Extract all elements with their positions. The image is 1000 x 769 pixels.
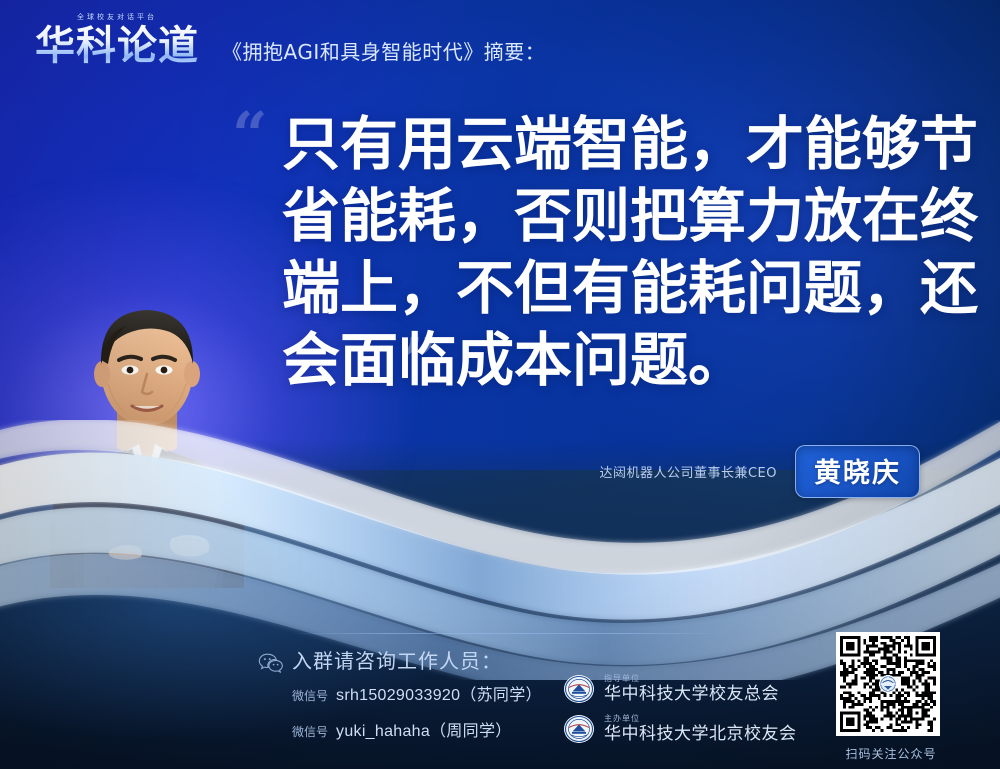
brand-tagline: 全球校友对话平台 xyxy=(77,12,157,22)
organization-kind: 主办单位 xyxy=(604,715,797,723)
wechat-icon xyxy=(258,653,284,673)
poster-header: 全球校友对话平台 华科论道 《拥抱AGI和具身智能时代》摘要： xyxy=(0,0,1000,88)
organization-item: 主办单位 华中科技大学北京校友会 xyxy=(563,713,797,745)
quote-text: 只有用云端智能，才能够节 省能耗，否则把算力放在终 端上，不但有能耗问题，还 会… xyxy=(282,108,942,396)
qr-section: 扫码关注公众号 xyxy=(836,632,946,762)
qr-code-icon[interactable] xyxy=(836,632,940,736)
speaker-role: 达闼机器人公司董事长兼CEO xyxy=(599,462,777,481)
organization-item: 指导单位 华中科技大学校友总会 xyxy=(563,673,779,705)
poster-root: 全球校友对话平台 华科论道 《拥抱AGI和具身智能时代》摘要： “ 只有用云端智… xyxy=(0,0,1000,769)
quote-line: 省能耗，否则把算力放在终 xyxy=(282,180,942,252)
speaker-name-badge: 黄晓庆 xyxy=(795,445,920,498)
contact-row: 微信号 yuki_hahaha（周同学） xyxy=(292,717,512,741)
contact-value: yuki_hahaha（周同学） xyxy=(336,717,512,741)
brand-name: 华科论道 xyxy=(27,22,207,70)
organization-name: 华中科技大学北京校友会 xyxy=(604,726,797,743)
quote-close-mark: ” xyxy=(402,330,436,392)
organization-name: 华中科技大学校友总会 xyxy=(604,686,779,703)
footer-title: 入群请咨询工作人员： xyxy=(292,645,502,674)
qr-caption: 扫码关注公众号 xyxy=(836,745,946,762)
attribution: 达闼机器人公司董事长兼CEO 黄晓庆 xyxy=(599,445,920,498)
contact-row: 微信号 srh15029033920（苏同学） xyxy=(292,681,542,705)
quote-line: 只有用云端智能，才能够节 xyxy=(282,108,942,180)
hust-seal-icon xyxy=(563,713,595,745)
contact-label: 微信号 xyxy=(292,723,328,740)
hust-seal-icon xyxy=(563,673,595,705)
contact-value: srh15029033920（苏同学） xyxy=(336,681,542,705)
quote-line: 会面临成本问题。 xyxy=(282,324,942,396)
organization-kind: 指导单位 xyxy=(604,675,779,683)
brand-logo: 全球校友对话平台 华科论道 xyxy=(27,10,207,72)
speaker-name: 黄晓庆 xyxy=(814,458,901,489)
footer-divider xyxy=(292,633,727,634)
quote-open-mark: “ xyxy=(232,104,266,166)
quote-line: 端上，不但有能耗问题，还 xyxy=(282,252,942,324)
contact-label: 微信号 xyxy=(292,687,328,704)
page-title: 《拥抱AGI和具身智能时代》摘要： xyxy=(222,36,545,65)
